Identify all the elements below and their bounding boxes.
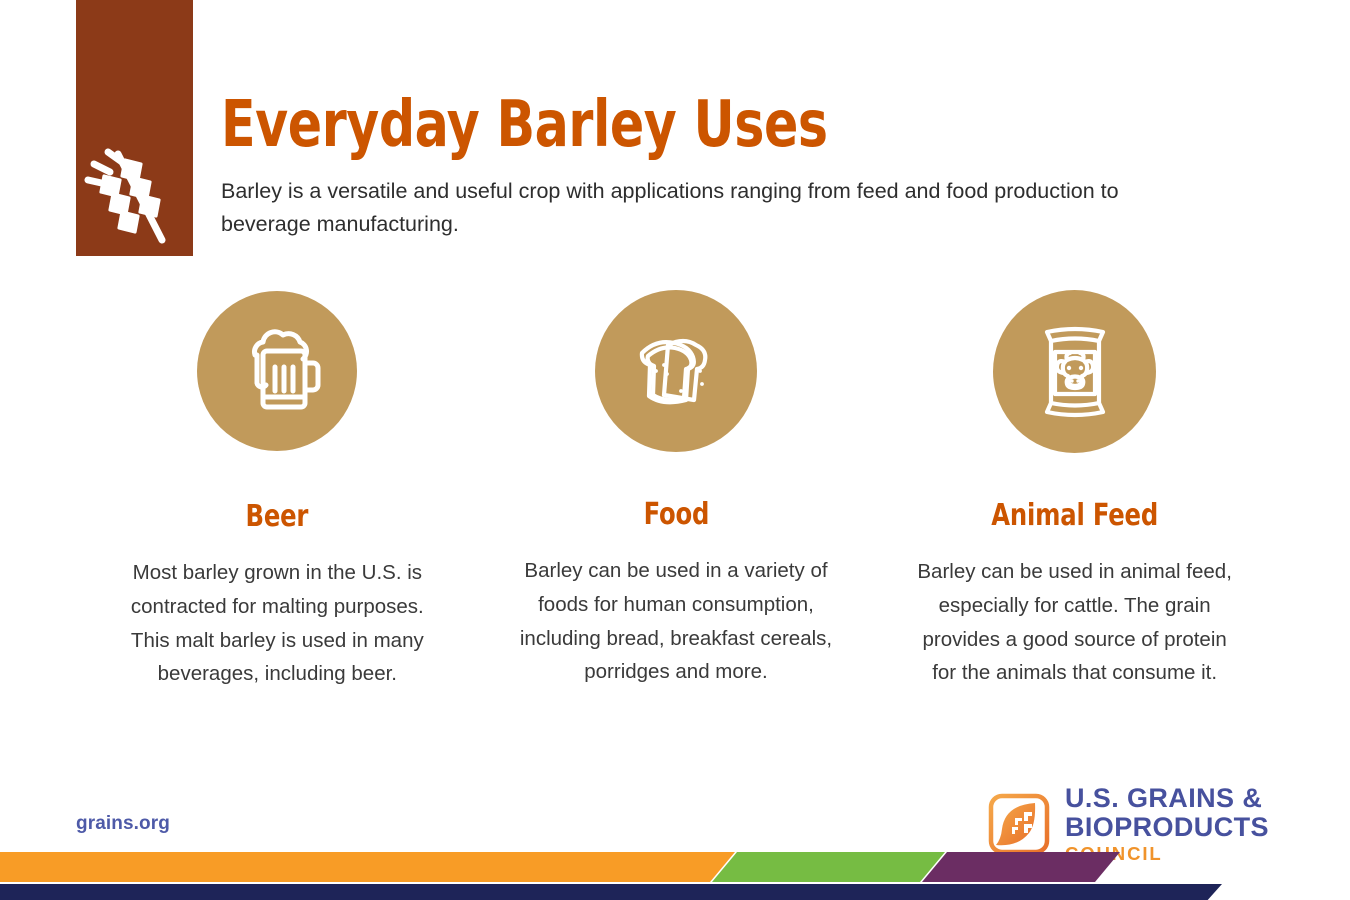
feed-bag-cow-icon bbox=[1025, 316, 1125, 428]
use-column-animal-feed: Animal Feed Barley can be used in animal… bbox=[875, 290, 1274, 690]
column-body-beer: Most barley grown in the U.S. is contrac… bbox=[115, 534, 440, 691]
header: Everyday Barley Uses Barley is a versati… bbox=[221, 93, 1281, 242]
logo-line-2: BIOPRODUCTS bbox=[1065, 813, 1269, 842]
beer-icon-circle bbox=[197, 291, 357, 451]
brand-banner bbox=[76, 0, 193, 256]
uses-columns: Beer Most barley grown in the U.S. is co… bbox=[78, 290, 1274, 691]
stripe-orange bbox=[0, 852, 735, 882]
use-column-food: Food Barley can be used in a variety of … bbox=[477, 290, 876, 689]
animal-feed-icon-circle bbox=[993, 290, 1156, 453]
page-subtitle: Barley is a versatile and useful crop wi… bbox=[221, 175, 1211, 242]
stripe-green bbox=[712, 852, 945, 882]
use-column-beer: Beer Most barley grown in the U.S. is co… bbox=[78, 290, 477, 691]
site-url[interactable]: grains.org bbox=[76, 813, 170, 835]
column-title-beer: Beer bbox=[246, 499, 309, 534]
beer-mug-icon bbox=[225, 319, 329, 423]
stripe-navy bbox=[0, 884, 1222, 900]
stripe-purple bbox=[922, 852, 1120, 882]
page-title: Everyday Barley Uses bbox=[221, 93, 1154, 157]
column-title-food: Food bbox=[643, 497, 709, 532]
column-body-animal-feed: Barley can be used in animal feed, espec… bbox=[910, 533, 1240, 690]
column-body-food: Barley can be used in a variety of foods… bbox=[503, 532, 848, 689]
food-icon-circle bbox=[595, 290, 757, 452]
logo-line-1: U.S. GRAINS & bbox=[1065, 784, 1269, 813]
barley-stalk-icon bbox=[84, 140, 184, 250]
bread-slices-icon bbox=[622, 321, 730, 421]
column-title-animal-feed: Animal Feed bbox=[991, 498, 1158, 533]
decorative-stripe-bar bbox=[0, 840, 1350, 900]
